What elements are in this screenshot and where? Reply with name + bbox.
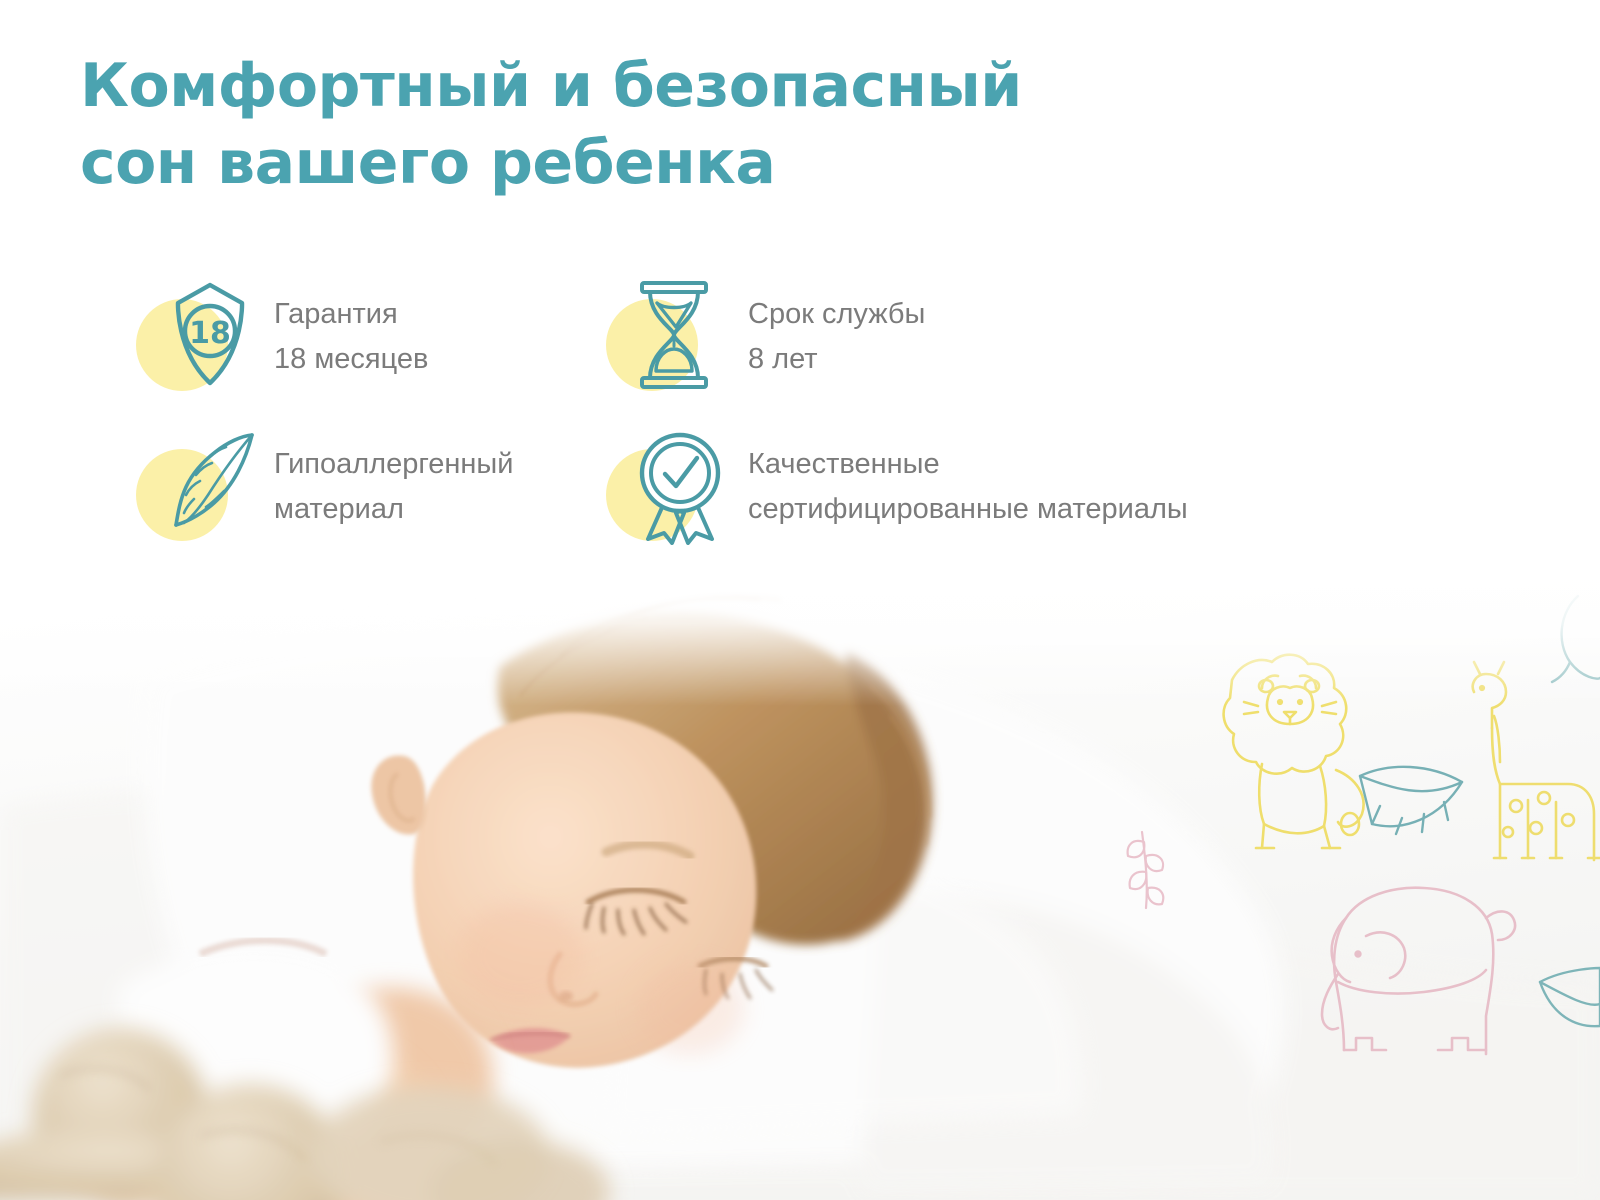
feature-label: Срок службы 8 лет [748, 292, 925, 382]
feature-label: Качественные сертифицированные материалы [748, 442, 1188, 532]
svg-text:18: 18 [189, 316, 231, 351]
page-title: Комфортный и безопасный сон вашего ребен… [80, 48, 1022, 202]
feature-row-2: Гипоаллергенный материал Качественные се… [136, 412, 1336, 562]
feature-label: Гипоаллергенный материал [274, 442, 513, 532]
feature-item-hypoallergenic: Гипоаллергенный материал [136, 412, 606, 562]
shield-18-icon: 18 [136, 277, 254, 397]
quality-medal-icon [606, 427, 724, 547]
feature-list: 18 Гарантия 18 месяцев [136, 262, 1336, 562]
hourglass-icon [606, 277, 724, 397]
feature-label: Гарантия 18 месяцев [274, 292, 428, 382]
feature-row-1: 18 Гарантия 18 месяцев [136, 262, 1336, 412]
feather-icon [136, 427, 254, 547]
feature-item-warranty: 18 Гарантия 18 месяцев [136, 262, 606, 412]
sleeping-child-photo [0, 556, 1600, 1200]
feature-item-certified: Качественные сертифицированные материалы [606, 412, 1246, 562]
promo-banner: Комфортный и безопасный сон вашего ребен… [0, 0, 1600, 1200]
feature-item-service-life: Срок службы 8 лет [606, 262, 1206, 412]
